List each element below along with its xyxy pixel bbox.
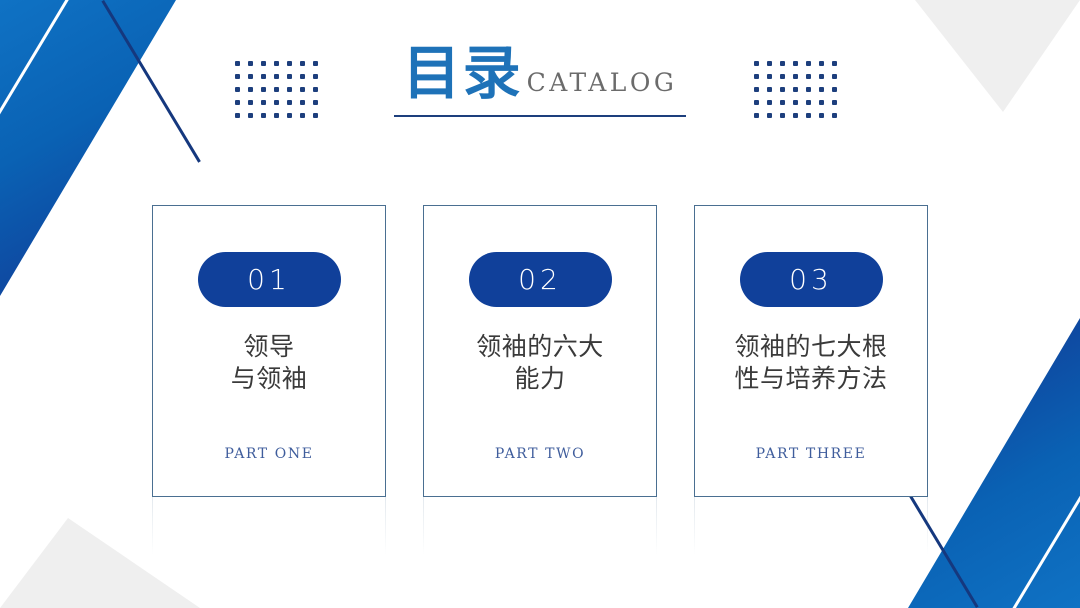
grid-dot (235, 61, 240, 66)
grid-dot (287, 100, 292, 105)
grid-dot (261, 100, 266, 105)
grid-dot (793, 74, 798, 79)
grid-dot (754, 74, 759, 79)
grid-dot (313, 61, 318, 66)
grid-dot (274, 87, 279, 92)
grid-dot (300, 100, 305, 105)
card-heading: 领袖的六大 能力 (468, 331, 612, 395)
grid-dot (819, 113, 824, 118)
grid-dot (261, 61, 266, 66)
grid-dot (780, 113, 785, 118)
grid-dot (313, 113, 318, 118)
grid-dot (754, 113, 759, 118)
catalog-card-01[interactable]: 01 领导 与领袖 PART ONE (152, 205, 386, 497)
catalog-card-list: 01 领导 与领袖 PART ONE 02 领袖的六大 能力 PART TWO … (0, 205, 1080, 555)
left-dot-grid-icon (235, 61, 326, 126)
grid-dot (300, 61, 305, 66)
grid-dot (235, 100, 240, 105)
grid-dot (261, 74, 266, 79)
grid-dot (819, 74, 824, 79)
grid-dot (248, 87, 253, 92)
grid-dot (313, 74, 318, 79)
catalog-card-wrapper: 02 领袖的六大 能力 PART TWO (423, 205, 657, 555)
card-heading: 领导 与领袖 (223, 331, 316, 395)
grid-dot (767, 74, 772, 79)
catalog-card-03[interactable]: 03 领袖的七大根 性与培养方法 PART THREE (694, 205, 928, 497)
right-dot-grid-icon (754, 61, 845, 126)
page-title: 目录 (403, 44, 523, 102)
grid-dot (235, 113, 240, 118)
title-block: 目录 CATALOG (394, 44, 686, 131)
grid-dot (754, 87, 759, 92)
grid-dot (248, 100, 253, 105)
grid-dot (806, 87, 811, 92)
grid-dot (313, 87, 318, 92)
grid-dot (806, 74, 811, 79)
grid-dot (235, 87, 240, 92)
grid-dot (780, 87, 785, 92)
grid-dot (819, 61, 824, 66)
card-number-badge: 03 (740, 252, 883, 307)
grid-dot (261, 113, 266, 118)
card-reflection (423, 497, 657, 555)
grid-dot (287, 74, 292, 79)
card-part-label: PART TWO (495, 446, 585, 462)
grid-dot (806, 100, 811, 105)
grid-dot (767, 61, 772, 66)
grid-dot (754, 100, 759, 105)
grid-dot (248, 61, 253, 66)
grid-dot (832, 87, 837, 92)
grid-dot (793, 100, 798, 105)
grid-dot (793, 87, 798, 92)
card-part-label: PART ONE (224, 446, 313, 462)
card-reflection (152, 497, 386, 555)
grid-dot (819, 100, 824, 105)
grid-dot (832, 74, 837, 79)
grid-dot (274, 61, 279, 66)
grid-dot (767, 87, 772, 92)
grid-dot (274, 74, 279, 79)
catalog-card-wrapper: 01 领导 与领袖 PART ONE (152, 205, 386, 555)
grid-dot (300, 87, 305, 92)
grid-dot (287, 113, 292, 118)
grid-dot (274, 113, 279, 118)
catalog-card-02[interactable]: 02 领袖的六大 能力 PART TWO (423, 205, 657, 497)
grid-dot (780, 74, 785, 79)
card-heading: 领袖的七大根 性与培养方法 (726, 331, 895, 395)
grid-dot (300, 113, 305, 118)
grid-dot (274, 100, 279, 105)
grid-dot (780, 100, 785, 105)
grid-dot (261, 87, 266, 92)
grid-dot (819, 87, 824, 92)
grid-dot (287, 87, 292, 92)
grid-dot (235, 74, 240, 79)
title-underline (394, 115, 686, 117)
grid-dot (313, 100, 318, 105)
grid-dot (287, 61, 292, 66)
catalog-slide: 目录 CATALOG 01 领导 与领袖 PART ONE 02 领袖的六大 能… (0, 0, 1080, 608)
grid-dot (767, 100, 772, 105)
grid-dot (300, 74, 305, 79)
page-title-subtext: CATALOG (527, 70, 678, 102)
grid-dot (793, 113, 798, 118)
grid-dot (806, 113, 811, 118)
card-number-badge: 01 (198, 252, 341, 307)
grid-dot (832, 100, 837, 105)
grid-dot (793, 61, 798, 66)
grid-dot (832, 113, 837, 118)
card-reflection (694, 497, 928, 555)
card-part-label: PART THREE (756, 446, 867, 462)
title-row: 目录 CATALOG (394, 44, 686, 102)
grid-dot (248, 74, 253, 79)
grid-dot (780, 61, 785, 66)
grid-dot (767, 113, 772, 118)
grid-dot (806, 61, 811, 66)
grid-dot (754, 61, 759, 66)
catalog-card-wrapper: 03 领袖的七大根 性与培养方法 PART THREE (694, 205, 928, 555)
grid-dot (832, 61, 837, 66)
slide-header: 目录 CATALOG (0, 44, 1080, 131)
grid-dot (248, 113, 253, 118)
card-number-badge: 02 (469, 252, 612, 307)
